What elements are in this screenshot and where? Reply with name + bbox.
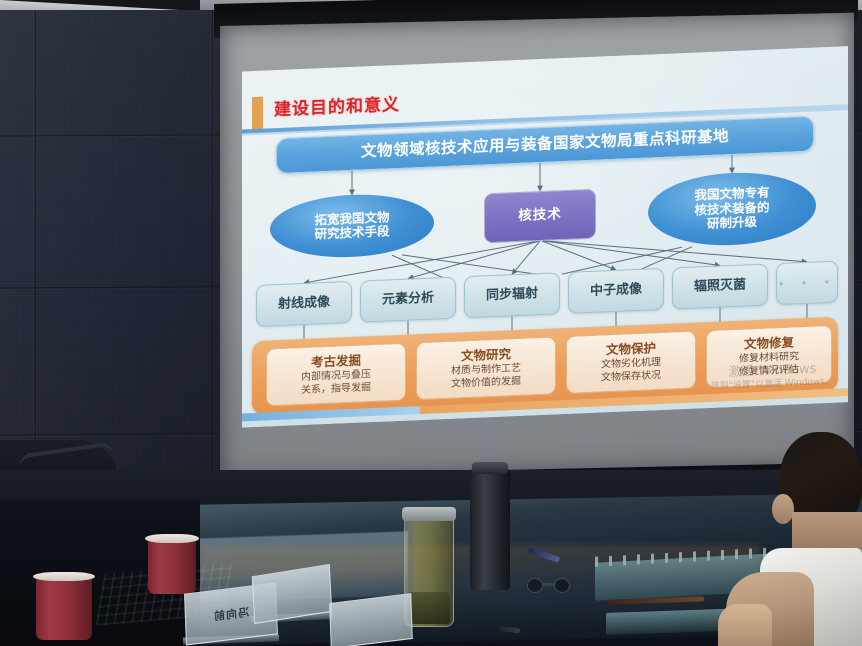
eyeglass-lens [554,578,570,593]
attendee-hand [718,604,772,646]
application-box[interactable]: 文物保护 文物劣化机理 文物保存状况 [566,331,696,394]
technique-box[interactable]: 同步辐射 [464,272,560,318]
application-title: 文物研究 [461,346,511,363]
application-title: 文物保护 [606,340,656,357]
goal-right-line-3: 研制升级 [707,215,757,232]
tea-jar-lid [402,507,456,521]
application-box[interactable]: 文物研究 材质与制作工艺 文物价值的发掘 [416,336,556,400]
technique-box[interactable]: 元素分析 [360,277,456,323]
application-box[interactable]: 考古发掘 内部情况与叠压 关系，指导发掘 [266,343,406,407]
application-title: 文物修复 [744,334,794,351]
paper-cup [36,578,92,640]
technique-box-ellipsis[interactable]: · · · [776,261,838,306]
projection-screen: 建设目的和意义 [214,4,858,494]
application-title: 考古发掘 [311,353,361,370]
placard-name: 冯向前 [213,604,250,624]
technique-box[interactable]: 辐照灭菌 [672,264,768,310]
eyeglass-lens [527,578,543,593]
conference-room: 建设目的和意义 [0,0,862,646]
application-line-2: 修复情况评估 [739,363,799,379]
name-placard [329,593,413,646]
thermos-bottle [470,468,510,590]
technique-box[interactable]: 射线成像 [256,281,352,327]
application-box[interactable]: 文物修复 修复材料研究 修复情况评估 [706,325,832,388]
diagram-core-node[interactable]: 核技术 [484,189,596,244]
attendee-ear [772,494,794,524]
tea-leaves [408,592,450,624]
goal-left-line-2: 研究技术手段 [314,224,389,242]
slide-diagram: 文物领域核技术应用与装备国家文物局重点科研基地 拓宽我国文物 研究技术手段 核技… [242,112,848,419]
presentation-slide: 建设目的和意义 [242,46,848,427]
heading-accent-bar [252,97,263,131]
slide-heading: 建设目的和意义 [274,90,400,120]
technique-box[interactable]: 中子成像 [568,268,664,314]
application-line-2: 文物保存状况 [601,369,661,385]
screen-surface: 建设目的和意义 [220,13,854,481]
paper-cup [148,540,196,594]
application-line-2: 关系，指导发掘 [301,381,371,397]
eyeglasses [527,578,573,594]
thermos-cap [472,462,508,474]
application-line-2: 文物价值的发掘 [451,375,521,391]
ellipsis-label: · · · [778,274,836,291]
